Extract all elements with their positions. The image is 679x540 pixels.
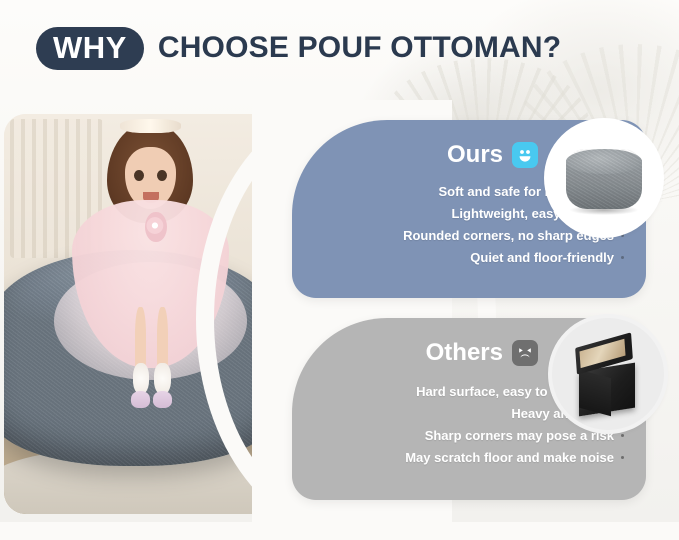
header: WHY CHOOSE POUF OTTOMAN? — [0, 0, 679, 96]
panel-ours-title: Ours — [447, 143, 503, 167]
panel-others-title: Others — [426, 341, 503, 365]
child-headband — [120, 119, 181, 133]
child-eye-right — [157, 170, 167, 181]
bullet-text: Sharp corners may pose a risk — [425, 426, 614, 445]
list-item: May scratch floor and make noise — [405, 448, 624, 467]
bullet-dot-icon — [621, 256, 624, 259]
hero-photo — [4, 114, 280, 514]
dress-rose — [145, 212, 167, 243]
page-title: CHOOSE POUF OTTOMAN? — [158, 31, 561, 65]
pouf-texture — [566, 149, 642, 209]
happy-face-icon — [512, 142, 538, 168]
child-shoe-right — [153, 391, 172, 408]
unhappy-face-icon — [512, 340, 538, 366]
child-sock-left — [133, 363, 150, 394]
photo-child — [87, 122, 214, 402]
list-item: Quiet and floor-friendly — [470, 248, 624, 267]
child-eye-left — [134, 170, 144, 181]
bullet-dot-icon — [621, 234, 624, 237]
bullet-dot-icon — [621, 434, 624, 437]
bullet-text: Quiet and floor-friendly — [470, 248, 614, 267]
panel-ours-title-row: Ours — [447, 142, 538, 168]
panel-others-title-row: Others — [426, 340, 538, 366]
child-sock-right — [154, 363, 171, 394]
why-badge: WHY — [36, 27, 144, 70]
product-thumb-ours — [548, 122, 660, 234]
list-item: Sharp corners may pose a risk — [425, 426, 624, 445]
product-thumb-others — [552, 318, 664, 430]
bullet-text: May scratch floor and make noise — [405, 448, 614, 467]
bullet-dot-icon — [621, 456, 624, 459]
child-shoe-left — [131, 391, 150, 408]
